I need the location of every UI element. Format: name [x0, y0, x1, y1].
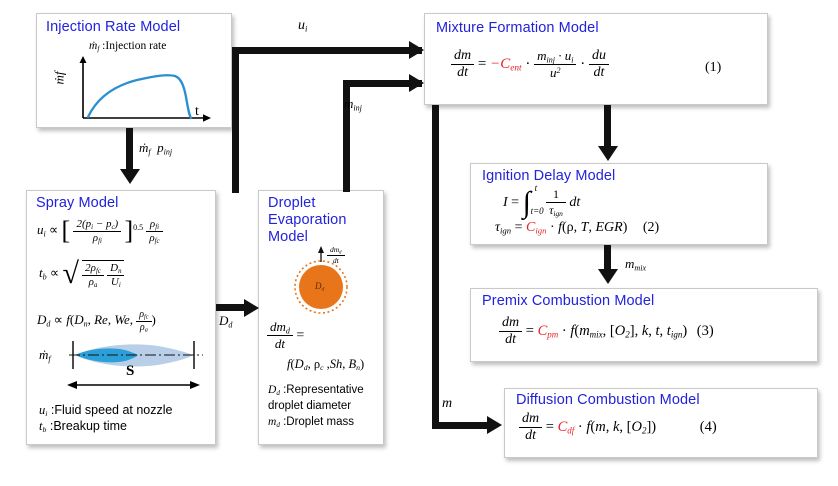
ignition-delay-equation-2: τign = Cign · f(ρ, T, EGR) (2): [495, 220, 659, 236]
connector-injection-to-spray-arrowhead: [120, 169, 140, 184]
injection-rate-model-box: Injection Rate Model ṁf :Injection rate …: [36, 13, 232, 128]
spray-note-tb: tb :Breakup time: [39, 419, 127, 435]
spray-plume-diagram: ṁf S: [33, 339, 211, 401]
ignition-delay-title: Ignition Delay Model: [482, 168, 615, 184]
diffusion-combustion-equation: dm dt = Cdf · f(m, k, [O2]) (4): [519, 411, 717, 444]
spray-eq-Dd: Dd ∝ f(Dn, Re, We, ρfc ρa ): [37, 309, 156, 333]
diffusion-combustion-title: Diffusion Combustion Model: [516, 392, 700, 408]
mixture-formation-model-box: Mixture Formation Model dm dt = −Cent · …: [424, 13, 768, 105]
premix-combustion-title: Premix Combustion Model: [482, 293, 654, 309]
connector-ignition-to-premix: [604, 245, 611, 271]
droplet-illustration: Dd dmd dt: [277, 245, 373, 317]
diffusion-combustion-model-box: Diffusion Combustion Model dm dt = Cdf ·…: [504, 388, 818, 458]
ignition-delay-equation-1: I = ∫ t t=0 1 τign dt: [503, 186, 580, 220]
injection-plot-y-label: ṁf: [52, 72, 68, 85]
premix-combustion-equation: dm dt = Cpm · f(mmix, [O2], k, t, tign) …: [499, 315, 714, 348]
connector-ui-arrowhead: [409, 41, 424, 59]
spray-model-title: Spray Model: [36, 195, 119, 211]
connector-ui-vertical: [232, 47, 239, 193]
label-m: m: [442, 396, 452, 412]
premix-combustion-model-box: Premix Combustion Model dm dt = Cpm · f(…: [470, 288, 818, 362]
connector-spray-to-droplet-arrowhead: [244, 299, 259, 317]
connector-minj-arrowhead: [409, 74, 424, 92]
mixture-coefficient: −Cent: [490, 56, 522, 72]
ignition-coefficient: Cign: [526, 220, 546, 235]
premix-coefficient: Cpm: [538, 323, 559, 339]
connector-mixture-to-ignition: [604, 105, 611, 148]
spray-note-ui: ui :Fluid speed at nozzle: [39, 403, 173, 419]
connector-m-arrowhead: [487, 416, 502, 434]
injection-plot-x-label: t: [195, 104, 199, 120]
droplet-flux-label: dmd dt: [327, 245, 345, 265]
connector-ui-horizontal: [232, 47, 422, 54]
diffusion-coefficient: Cdf: [558, 419, 575, 435]
injection-rate-title: Injection Rate Model: [46, 19, 180, 35]
droplet-title-line3: Model: [268, 229, 308, 245]
label-Dd: Dd: [219, 313, 232, 329]
droplet-note-Dd: Dd :Representative: [268, 383, 364, 398]
droplet-note-Dd-cont: droplet diameter: [268, 399, 351, 413]
connector-m-horizontal: [432, 422, 490, 429]
spray-model-box: Spray Model ui ∝ [ 2(pi − pc) ρfi ]0.5 ρ…: [26, 190, 216, 445]
droplet-eq-lhs: dmd dt =: [267, 319, 304, 352]
connector-ignition-to-premix-arrowhead: [598, 269, 618, 284]
label-mmix: mmix: [625, 256, 646, 272]
spray-eq-tb: tb ∝ √ 2ρfc ρa Dn Ui: [39, 259, 124, 289]
droplet-title-line1: Droplet: [268, 195, 315, 211]
connector-injection-to-spray: [126, 128, 133, 171]
droplet-diameter-label: Dd: [315, 281, 324, 293]
mixture-formation-title: Mixture Formation Model: [436, 20, 599, 36]
spray-plume-span-label: S: [126, 363, 134, 380]
spray-plume-mf-label: ṁf: [39, 347, 51, 363]
droplet-title-line2: Evaporation: [268, 212, 347, 228]
ignition-delay-model-box: Ignition Delay Model I = ∫ t t=0 1 τign …: [470, 163, 768, 245]
label-ui: ui: [298, 18, 307, 34]
connector-mixture-to-ignition-arrowhead: [598, 146, 618, 161]
spray-eq-ui: ui ∝ [ 2(pi − pc) ρfi ]0.5 ρfi ρfc: [37, 216, 163, 246]
label-minj: minj: [344, 96, 362, 112]
label-mf-pinj: ṁf pinj: [139, 140, 172, 156]
mixture-equation-number: (1): [705, 60, 721, 76]
mixture-formation-equation: dm dt = −Cent · minj · ui u2 · du dt: [451, 48, 609, 81]
droplet-evaporation-model-box: Droplet Evaporation Model Dd dmd dt dmd …: [258, 190, 384, 445]
injection-rate-plot: ṁf t: [55, 52, 227, 124]
droplet-note-md: md :Droplet mass: [268, 415, 354, 430]
droplet-eq-rhs: f(Dd, ρc ,Sh, Bn): [287, 357, 364, 372]
connector-spray-to-droplet: [216, 304, 246, 311]
connector-m-vertical: [432, 105, 439, 429]
